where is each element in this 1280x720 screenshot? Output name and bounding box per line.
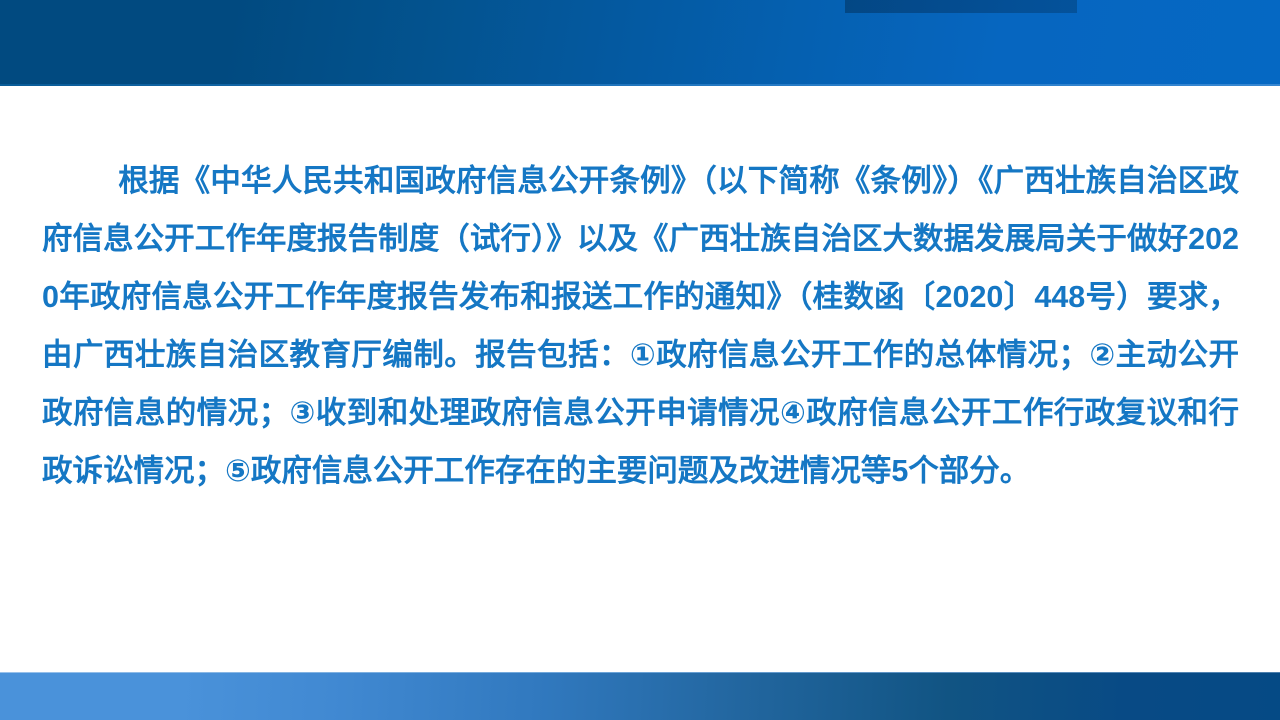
bottom-decorative-band: [0, 673, 1280, 720]
slide-canvas: 根据《中华人民共和国政府信息公开条例》（以下简称《条例》）《广西壮族自治区政府信…: [0, 0, 1280, 720]
top-decorative-band: [0, 0, 1280, 86]
report-intro-text: 根据《中华人民共和国政府信息公开条例》（以下简称《条例》）《广西壮族自治区政府信…: [42, 164, 1239, 488]
report-intro-paragraph: 根据《中华人民共和国政府信息公开条例》（以下简称《条例》）《广西壮族自治区政府信…: [42, 152, 1239, 500]
body-copy-block: 根据《中华人民共和国政府信息公开条例》（以下简称《条例》）《广西壮族自治区政府信…: [42, 152, 1239, 500]
top-band-edge-highlight: [0, 84, 1280, 86]
top-band-notch: [845, 0, 1077, 13]
